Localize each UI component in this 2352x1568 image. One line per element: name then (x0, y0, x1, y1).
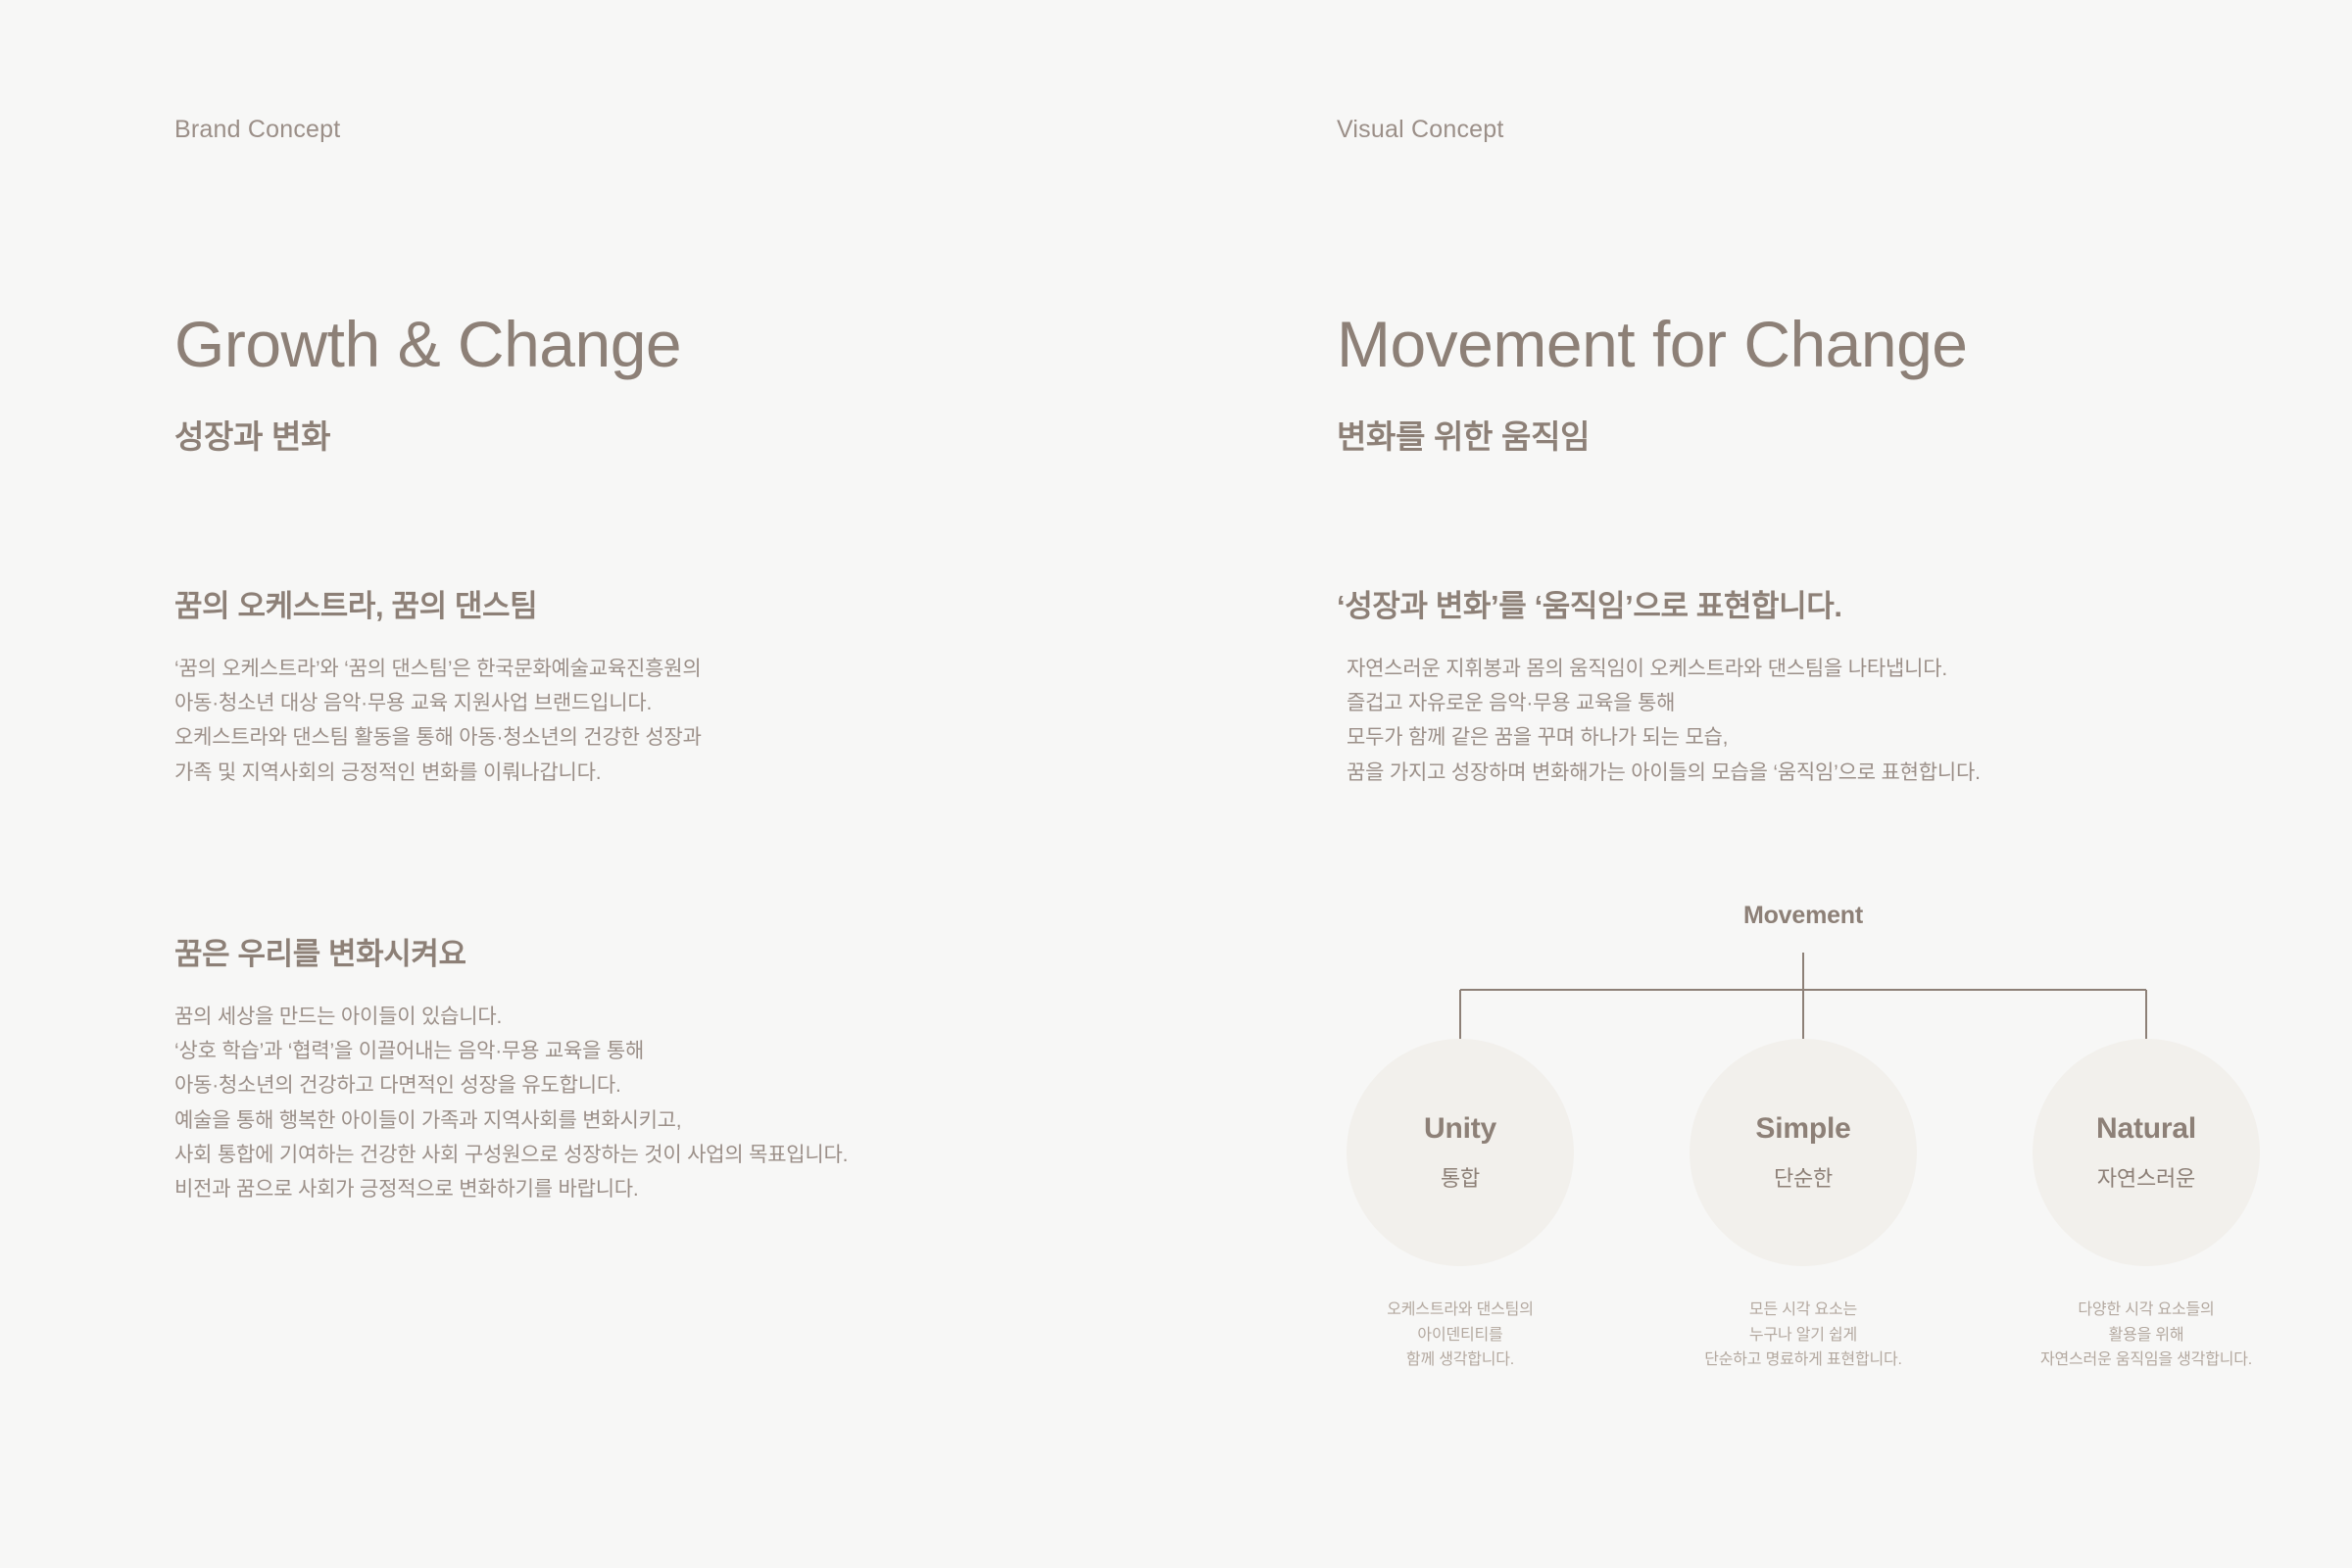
body-line: 가족 및 지역사회의 긍정적인 변화를 이뤄나갑니다. (174, 756, 702, 790)
brand-block-dream: 꿈은 우리를 변화시켜요 꿈의 세상을 만드는 아이들이 있습니다. ‘상호 학… (174, 936, 848, 1206)
brand-concept-kicker: Brand Concept (174, 116, 340, 144)
body-line: 아동·청소년 대상 음악·무용 교육 지원사업 브랜드입니다. (174, 686, 702, 720)
caption-line: 모든 시각 요소는 (1704, 1298, 1902, 1323)
visual-block-expression-body: 자연스러운 지휘봉과 몸의 움직임이 오케스트라와 댄스팀을 나타냅니다. 즐겁… (1337, 652, 1981, 790)
caption-line: 활용을 위해 (2040, 1323, 2252, 1348)
simple-label-ko: 단순한 (1774, 1161, 1833, 1193)
brand-block-orchestra: 꿈의 오케스트라, 꿈의 댄스팀 ‘꿈의 오케스트라’와 ‘꿈의 댄스팀’은 한… (174, 588, 702, 790)
brand-block-dream-body: 꿈의 세상을 만드는 아이들이 있습니다. ‘상호 학습’과 ‘협력’을 이끌어… (174, 1000, 848, 1207)
visual-block-expression: ‘성장과 변화’를 ‘움직임’으로 표현합니다. 자연스러운 지휘봉과 몸의 움… (1337, 588, 1981, 790)
brand-concept-column: Brand Concept Growth & Change 성장과 변화 꿈의 … (0, 0, 1313, 1568)
natural-circle: Natural 자연스러운 (2033, 1039, 2260, 1266)
diagram-node-list: Unity 통합 오케스트라와 댄스팀의 아이덴티티를 함께 생각합니다. Si… (1313, 1039, 2293, 1373)
body-line: 즐겁고 자유로운 음악·무용 교육을 통해 (1347, 686, 1981, 720)
brand-visual-concept-page: Brand Concept Growth & Change 성장과 변화 꿈의 … (0, 0, 2352, 1568)
unity-caption: 오케스트라와 댄스팀의 아이덴티티를 함께 생각합니다. (1387, 1298, 1533, 1373)
body-line: 모두가 함께 같은 꿈을 꾸며 하나가 되는 모습, (1347, 720, 1981, 755)
unity-circle: Unity 통합 (1347, 1039, 1574, 1266)
body-line: 비전과 꿈으로 사회가 긍정적으로 변화하기를 바랍니다. (174, 1172, 848, 1206)
body-line: 꿈의 세상을 만드는 아이들이 있습니다. (174, 1000, 848, 1034)
body-line: ‘꿈의 오케스트라’와 ‘꿈의 댄스팀’은 한국문화예술교육진흥원의 (174, 652, 702, 686)
caption-line: 단순하고 명료하게 표현합니다. (1704, 1347, 1902, 1373)
movement-diagram-title: Movement (1313, 902, 2293, 930)
body-line: 오케스트라와 댄스팀 활동을 통해 아동·청소년의 건강한 성장과 (174, 720, 702, 755)
visual-concept-subtitle: 변화를 위한 움직임 (1337, 417, 1590, 457)
brand-concept-title: Growth & Change (174, 312, 681, 376)
caption-line: 다양한 시각 요소들의 (2040, 1298, 2252, 1323)
body-line: 자연스러운 지휘봉과 몸의 움직임이 오케스트라와 댄스팀을 나타냅니다. (1347, 652, 1981, 686)
caption-line: 자연스러운 움직임을 생각합니다. (2040, 1347, 2252, 1373)
simple-label-en: Simple (1755, 1112, 1850, 1146)
diagram-node-unity: Unity 통합 오케스트라와 댄스팀의 아이덴티티를 함께 생각합니다. (1313, 1039, 1607, 1373)
diagram-node-simple: Simple 단순한 모든 시각 요소는 누구나 알기 쉽게 단순하고 명료하게… (1656, 1039, 1950, 1373)
simple-circle: Simple 단순한 (1690, 1039, 1917, 1266)
natural-caption: 다양한 시각 요소들의 활용을 위해 자연스러운 움직임을 생각합니다. (2040, 1298, 2252, 1373)
caption-line: 아이덴티티를 (1387, 1323, 1533, 1348)
body-line: 아동·청소년의 건강하고 다면적인 성장을 유도합니다. (174, 1068, 848, 1102)
body-line: ‘상호 학습’과 ‘협력’을 이끌어내는 음악·무용 교육을 통해 (174, 1034, 848, 1068)
visual-concept-title: Movement for Change (1337, 312, 1968, 376)
movement-diagram: Movement Unity 통합 오케스트라와 댄스팀의 아이덴티티를 (1313, 902, 2293, 1411)
brand-concept-subtitle: 성장과 변화 (174, 417, 330, 457)
diagram-node-natural: Natural 자연스러운 다양한 시각 요소들의 활용을 위해 자연스러운 움… (1999, 1039, 2293, 1373)
caption-line: 누구나 알기 쉽게 (1704, 1323, 1902, 1348)
caption-line: 오케스트라와 댄스팀의 (1387, 1298, 1533, 1323)
natural-label-ko: 자연스러운 (2097, 1161, 2195, 1193)
caption-line: 함께 생각합니다. (1387, 1347, 1533, 1373)
body-line: 꿈을 가지고 성장하며 변화해가는 아이들의 모습을 ‘움직임’으로 표현합니다… (1347, 756, 1981, 790)
unity-label-ko: 통합 (1441, 1161, 1480, 1193)
brand-block-dream-heading: 꿈은 우리를 변화시켜요 (174, 936, 848, 974)
brand-block-orchestra-body: ‘꿈의 오케스트라’와 ‘꿈의 댄스팀’은 한국문화예술교육진흥원의 아동·청소… (174, 652, 702, 790)
body-line: 사회 통합에 기여하는 건강한 사회 구성원으로 성장하는 것이 사업의 목표입… (174, 1138, 848, 1172)
unity-label-en: Unity (1424, 1112, 1496, 1146)
body-line: 예술을 통해 행복한 아이들이 가족과 지역사회를 변화시키고, (174, 1103, 848, 1138)
brand-block-orchestra-heading: 꿈의 오케스트라, 꿈의 댄스팀 (174, 588, 702, 626)
visual-block-expression-heading: ‘성장과 변화’를 ‘움직임’으로 표현합니다. (1337, 588, 1981, 626)
simple-caption: 모든 시각 요소는 누구나 알기 쉽게 단순하고 명료하게 표현합니다. (1704, 1298, 1902, 1373)
natural-label-en: Natural (2096, 1112, 2196, 1146)
visual-concept-kicker: Visual Concept (1337, 116, 1504, 144)
